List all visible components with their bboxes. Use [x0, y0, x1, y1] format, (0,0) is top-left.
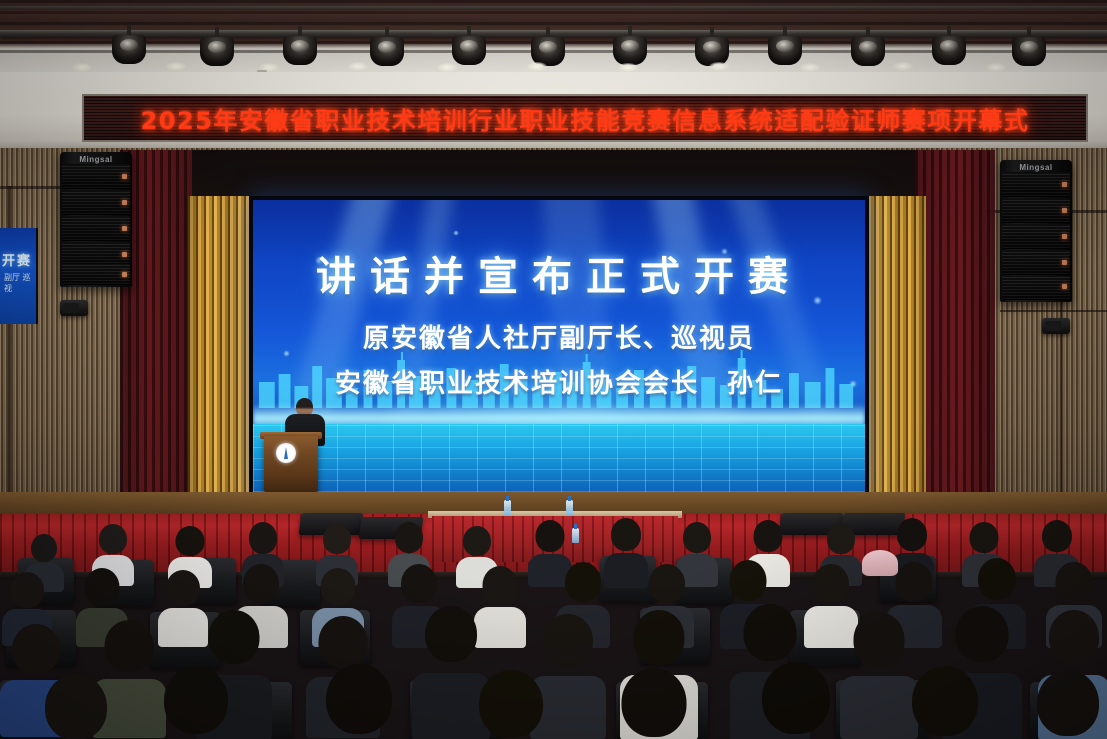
- audience-member: [146, 666, 246, 739]
- speaker-brand-right: Mingsal: [1000, 163, 1072, 172]
- side-screen-lines: 副厅 巡视: [4, 272, 38, 294]
- stage-spotlight: [695, 27, 729, 67]
- audience-member: [462, 670, 560, 739]
- side-screen-title: 开赛: [2, 250, 36, 269]
- line-array-speaker-left: Mingsal: [60, 152, 132, 287]
- stage-spotlight: [613, 26, 647, 66]
- stage-spotlight: [370, 27, 404, 67]
- side-drape-right: [915, 150, 995, 505]
- line-array-speaker-right: Mingsal: [1000, 160, 1072, 302]
- screen-subtitle-2: 安徽省职业技术培训协会会长 孙仁: [253, 363, 865, 400]
- led-banner: 2025年安徽省职业技术培训行业职业技能竞赛信息系统适配验证师赛项开幕式: [82, 94, 1088, 142]
- stage-spotlight: [932, 26, 966, 66]
- ceiling-downlight: [348, 62, 368, 71]
- screen-main-title: 讲话并宣布正式开赛: [253, 244, 865, 302]
- stage-spotlight: [452, 26, 486, 66]
- ceiling-downlight: [437, 63, 457, 72]
- bokeh-dot: [453, 230, 459, 236]
- audience-member: [604, 668, 704, 739]
- cable-run-right: [1000, 310, 1107, 312]
- stage-spotlight: [768, 26, 802, 66]
- ceiling-downlight: [893, 62, 913, 71]
- stage-spotlight: [1012, 27, 1046, 67]
- ceiling-downlight: [527, 62, 547, 71]
- audience-member: [28, 674, 124, 739]
- led-banner-text: 2025年安徽省职业技术培训行业职业技能竞赛信息系统适配验证师赛项开幕式: [141, 101, 1030, 136]
- stage-spotlight: [112, 25, 146, 65]
- conference-hall-photo: 2025年安徽省职业技术培训行业职业技能竞赛信息系统适配验证师赛项开幕式: [0, 0, 1107, 739]
- wall-speaker-right: [1042, 318, 1070, 334]
- ceiling-downlight: [986, 63, 1006, 72]
- screen-content: 讲话并宣布正式开赛 原安徽省人社厅副厅长、巡视员 安徽省职业技术培训协会会长 孙…: [253, 200, 865, 492]
- ceiling-downlight: [618, 63, 638, 72]
- stage-spotlight: [283, 26, 317, 66]
- ceiling-downlight: [800, 63, 820, 72]
- speaker-brand-left: Mingsal: [60, 155, 132, 164]
- ceiling-downlight: [166, 62, 186, 71]
- ceiling-downlight: [709, 62, 729, 71]
- stage-curtain-right: [866, 196, 926, 496]
- main-led-screen: 讲话并宣布正式开赛 原安徽省人社厅副厅长、巡视员 安徽省职业技术培训协会会长 孙…: [249, 196, 869, 496]
- screen-subtitle-1: 原安徽省人社厅副厅长、巡视员: [253, 318, 865, 355]
- audience-member: [308, 664, 410, 739]
- audience-member: [1020, 670, 1107, 739]
- audience-member: [894, 666, 996, 739]
- audience-member: [858, 550, 902, 594]
- stage-spotlight: [200, 27, 234, 67]
- ceiling-downlight: [72, 63, 92, 72]
- side-display-screen: 开赛 副厅 巡视: [0, 228, 38, 324]
- audience-area: [0, 498, 1107, 739]
- ceiling-rail-upper: [0, 6, 1107, 10]
- stage-spotlight: [531, 27, 565, 67]
- stage-spotlight: [851, 27, 885, 67]
- perspective-grid: [253, 424, 865, 492]
- podium-emblem-icon: [276, 443, 296, 463]
- audience-member: [744, 662, 848, 739]
- wall-speaker-left: [60, 300, 88, 316]
